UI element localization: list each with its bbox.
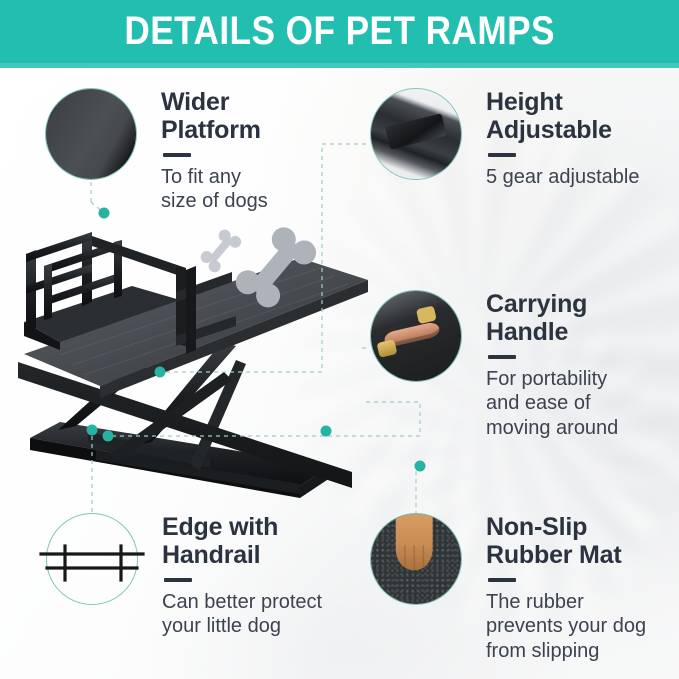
page-title: DETAILS OF PET RAMPS	[124, 9, 555, 54]
handrail-line-icon	[46, 513, 138, 605]
feature-description: 5 gear adjustable	[486, 165, 679, 189]
feature-title: Wider Platform	[161, 88, 351, 144]
feature-description: For portability and ease of moving aroun…	[486, 367, 679, 440]
title-rule	[164, 578, 192, 582]
title-rule	[488, 355, 516, 359]
feature-description: To fit any size of dogs	[161, 165, 351, 214]
dog-paw-on-rubber-mat-photo	[370, 513, 462, 605]
title-rule	[488, 578, 516, 582]
leather-handle-photo	[370, 290, 462, 382]
header-banner: DETAILS OF PET RAMPS	[0, 0, 679, 63]
small-bone-icon	[197, 226, 244, 275]
dog-paw-icon	[389, 513, 439, 581]
infographic-page: DETAILS OF PET RAMPS	[0, 0, 679, 679]
banner-bottom-edge	[0, 63, 679, 68]
feature-description: Can better protect your little dog	[162, 590, 372, 639]
bone-decoration-group	[196, 222, 326, 318]
large-bone-icon	[231, 222, 321, 315]
title-rule	[488, 153, 516, 157]
feature-title: Height Adjustable	[486, 88, 679, 144]
feature-title: Edge with Handrail	[162, 513, 372, 569]
feature-title: Non-Slip Rubber Mat	[486, 513, 679, 569]
feature-title: Carrying Handle	[486, 290, 679, 346]
hinge-closeup-photo	[370, 88, 462, 180]
platform-closeup-photo	[45, 88, 137, 180]
feature-description: The rubber prevents your dog from slippi…	[486, 590, 679, 663]
title-rule	[163, 153, 191, 157]
